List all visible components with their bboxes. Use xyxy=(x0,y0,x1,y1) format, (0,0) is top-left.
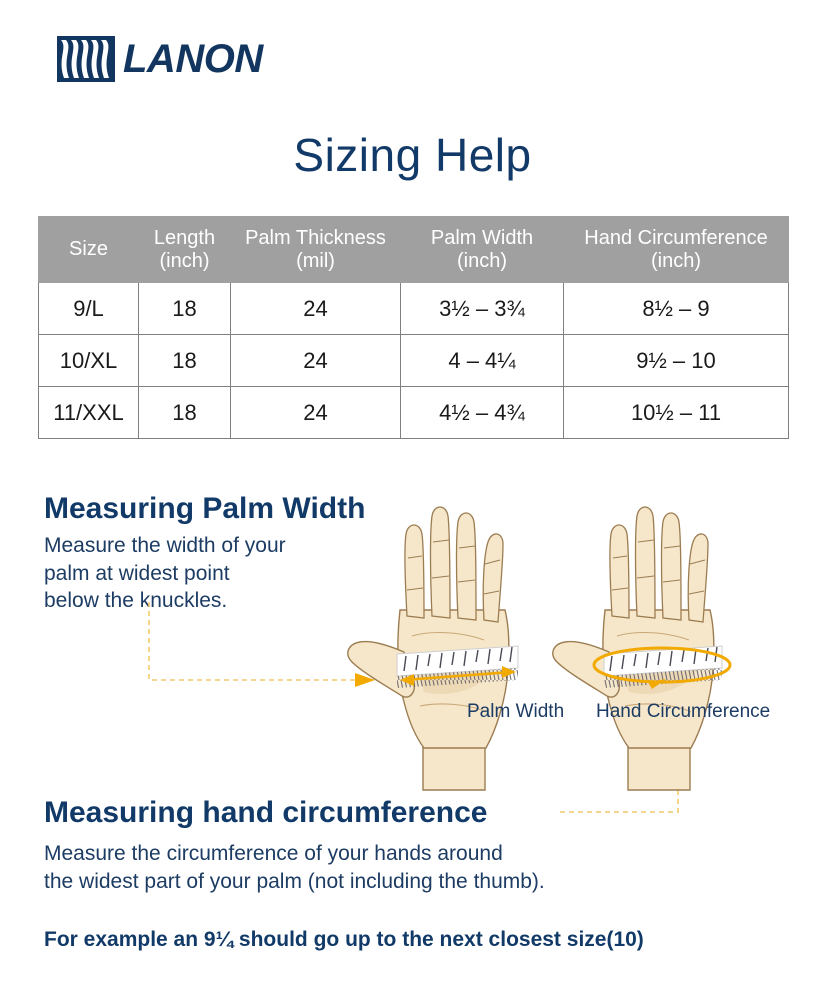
page-title: Sizing Help xyxy=(0,128,825,182)
header-main: Length xyxy=(154,227,215,249)
cell-length: 18 xyxy=(139,283,231,335)
palm-width-caption: Palm Width xyxy=(467,701,564,723)
size-chart-table: Size Length (inch) Palm Thickness (mil) … xyxy=(38,216,789,439)
hand-circumference-heading: Measuring hand circumference xyxy=(44,796,487,830)
table-row: 9/L 18 24 3½ – 3¾ 8½ – 9 xyxy=(39,283,789,335)
cell-palm-width: 4½ – 4¾ xyxy=(401,387,564,439)
cell-palm-width: 3½ – 3¾ xyxy=(401,283,564,335)
table-row: 11/XXL 18 24 4½ – 4¾ 10½ – 11 xyxy=(39,387,789,439)
palm-width-heading: Measuring Palm Width xyxy=(44,492,365,526)
hand-circumference-caption: Hand Circumference xyxy=(596,701,770,723)
cell-thickness: 24 xyxy=(231,283,401,335)
header-main: Palm Width xyxy=(431,227,533,249)
hand-circumference-tape xyxy=(594,646,730,689)
palm-width-tape xyxy=(397,646,518,688)
column-header-hand-circumference: Hand Circumference (inch) xyxy=(564,217,789,283)
column-header-palm-thickness: Palm Thickness (mil) xyxy=(231,217,401,283)
header-sub: (mil) xyxy=(235,250,396,273)
body-line: Measure the width of your xyxy=(44,532,374,560)
table-header-row: Size Length (inch) Palm Thickness (mil) … xyxy=(39,217,789,283)
body-line: palm at widest point xyxy=(44,560,374,588)
palm-width-body: Measure the width of your palm at widest… xyxy=(44,532,374,615)
circumference-loop xyxy=(594,648,730,689)
cell-length: 18 xyxy=(139,335,231,387)
column-header-length: Length (inch) xyxy=(139,217,231,283)
header-main: Size xyxy=(69,238,108,260)
cell-size: 9/L xyxy=(39,283,139,335)
example-note: For example an 9¼ should go up to the ne… xyxy=(44,928,644,952)
header-main: Hand Circumference xyxy=(584,227,767,249)
body-line: below the knuckles. xyxy=(44,587,374,615)
cell-length: 18 xyxy=(139,387,231,439)
cell-hand-circumference: 10½ – 11 xyxy=(564,387,789,439)
brand-name: LANON xyxy=(123,39,263,79)
hand-circumference-body: Measure the circumference of your hands … xyxy=(44,840,684,895)
cell-hand-circumference: 8½ – 9 xyxy=(564,283,789,335)
header-main: Palm Thickness xyxy=(245,227,386,249)
wave-stripes-icon xyxy=(57,36,115,82)
cell-size: 10/XL xyxy=(39,335,139,387)
body-line: Measure the circumference of your hands … xyxy=(44,840,684,868)
cell-thickness: 24 xyxy=(231,335,401,387)
brand-logo: LANON xyxy=(57,36,263,82)
column-header-palm-width: Palm Width (inch) xyxy=(401,217,564,283)
header-sub: (inch) xyxy=(568,250,784,273)
cell-size: 11/XXL xyxy=(39,387,139,439)
cell-hand-circumference: 9½ – 10 xyxy=(564,335,789,387)
table-row: 10/XL 18 24 4 – 4¼ 9½ – 10 xyxy=(39,335,789,387)
hand-circumference-connector xyxy=(560,756,685,812)
column-header-size: Size xyxy=(39,217,139,283)
header-sub: (inch) xyxy=(143,250,226,273)
cell-thickness: 24 xyxy=(231,387,401,439)
header-sub: (inch) xyxy=(405,250,559,273)
cell-palm-width: 4 – 4¼ xyxy=(401,335,564,387)
right-hand-graphic xyxy=(553,507,730,790)
body-line: the widest part of your palm (not includ… xyxy=(44,868,684,896)
palm-width-arrow xyxy=(400,666,516,686)
